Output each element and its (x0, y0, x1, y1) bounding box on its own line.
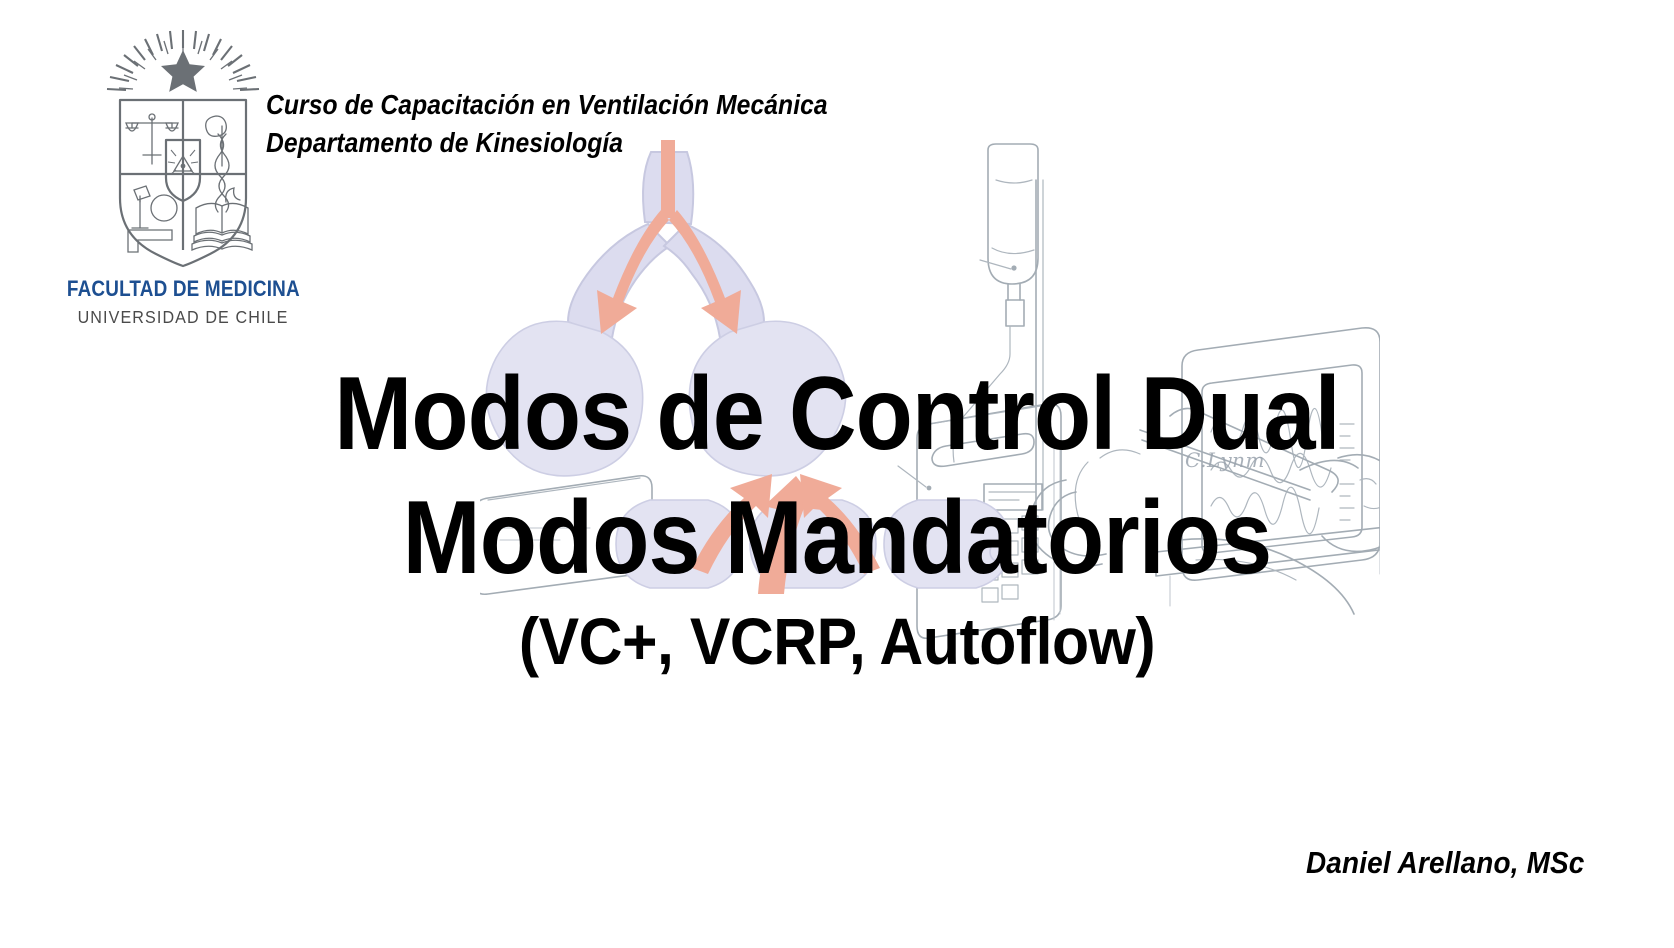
faculty-label: FACULTAD DE MEDICINA (67, 276, 299, 302)
course-title-line: Curso de Capacitación en Ventilación Mec… (266, 86, 828, 124)
slide-root: .pen { fill:none; stroke:#9fa8b0; stroke… (0, 0, 1674, 948)
university-label: UNIVERSIDAD DE CHILE (59, 307, 307, 328)
university-of-chile-coat-of-arms-icon: .cs { fill:none; stroke:#6b7075; stroke-… (98, 22, 268, 270)
university-logo-block: .cs { fill:none; stroke:#6b7075; stroke-… (48, 22, 318, 328)
author-name: Daniel Arellano, MSc (1305, 845, 1584, 881)
department-line: Departamento de Kinesiología (266, 124, 828, 162)
course-header: Curso de Capacitación en Ventilación Mec… (266, 86, 904, 162)
title-line-1: Modos de Control Dual (84, 352, 1591, 476)
title-line-2: Modos Mandatorios (84, 476, 1591, 600)
slide-title-block: Modos de Control Dual Modos Mandatorios … (0, 352, 1674, 680)
title-subtitle: (VC+, VCRP, Autoflow) (67, 602, 1607, 680)
